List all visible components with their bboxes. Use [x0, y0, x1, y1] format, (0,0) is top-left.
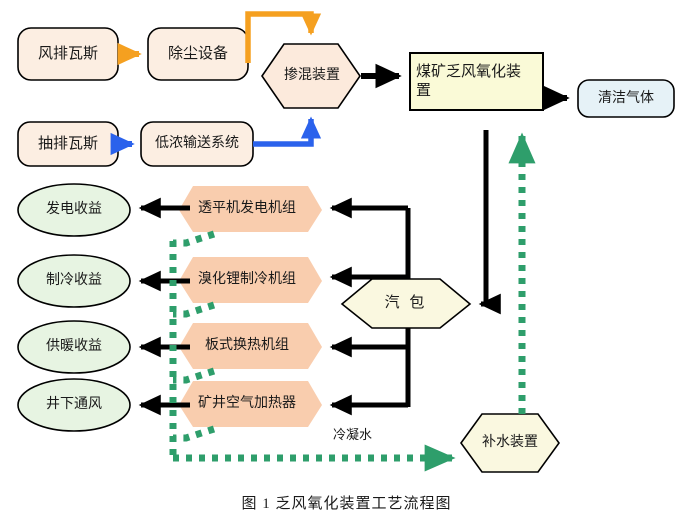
node-underground-ventilation	[18, 379, 130, 431]
node-heating-benefit	[18, 321, 130, 373]
node-low-conc-transport	[141, 122, 253, 166]
node-makeup-water	[461, 414, 559, 472]
edge-condensate-tap-turbine	[173, 234, 214, 243]
figure-canvas: 风排瓦斯 除尘设备 抽排瓦斯 低浓输送系统 掺混装置 煤矿乏风氧化装 置 清洁气…	[0, 0, 693, 530]
flowchart-svg	[0, 0, 693, 530]
node-mine-air-heater	[179, 381, 322, 427]
node-ventilation-gas	[18, 28, 118, 80]
figure-caption: 图 1 乏风氧化装置工艺流程图	[0, 492, 693, 513]
node-dust-removal	[148, 28, 248, 80]
edge-oxidizer-to-steam-drum	[481, 130, 486, 304]
node-plate-heat-exchanger	[179, 323, 322, 369]
node-cooling-benefit	[18, 255, 130, 307]
node-libr-chiller	[179, 257, 322, 303]
node-turbine-generator	[179, 186, 322, 232]
node-clean-gas	[578, 80, 674, 117]
node-blending-device	[262, 44, 360, 108]
label-condensate-water: 冷凝水	[333, 424, 372, 443]
node-drained-gas	[18, 122, 118, 166]
edge-condensate-tap-chiller	[173, 305, 214, 314]
edge-condensate-tap-heater	[173, 429, 214, 438]
edge-transport-to-blending	[253, 119, 311, 144]
node-steam-drum	[342, 279, 470, 328]
edge-condensate-tap-exchanger	[173, 371, 214, 380]
node-power-benefit	[18, 184, 130, 236]
node-vam-oxidizer	[410, 53, 543, 110]
